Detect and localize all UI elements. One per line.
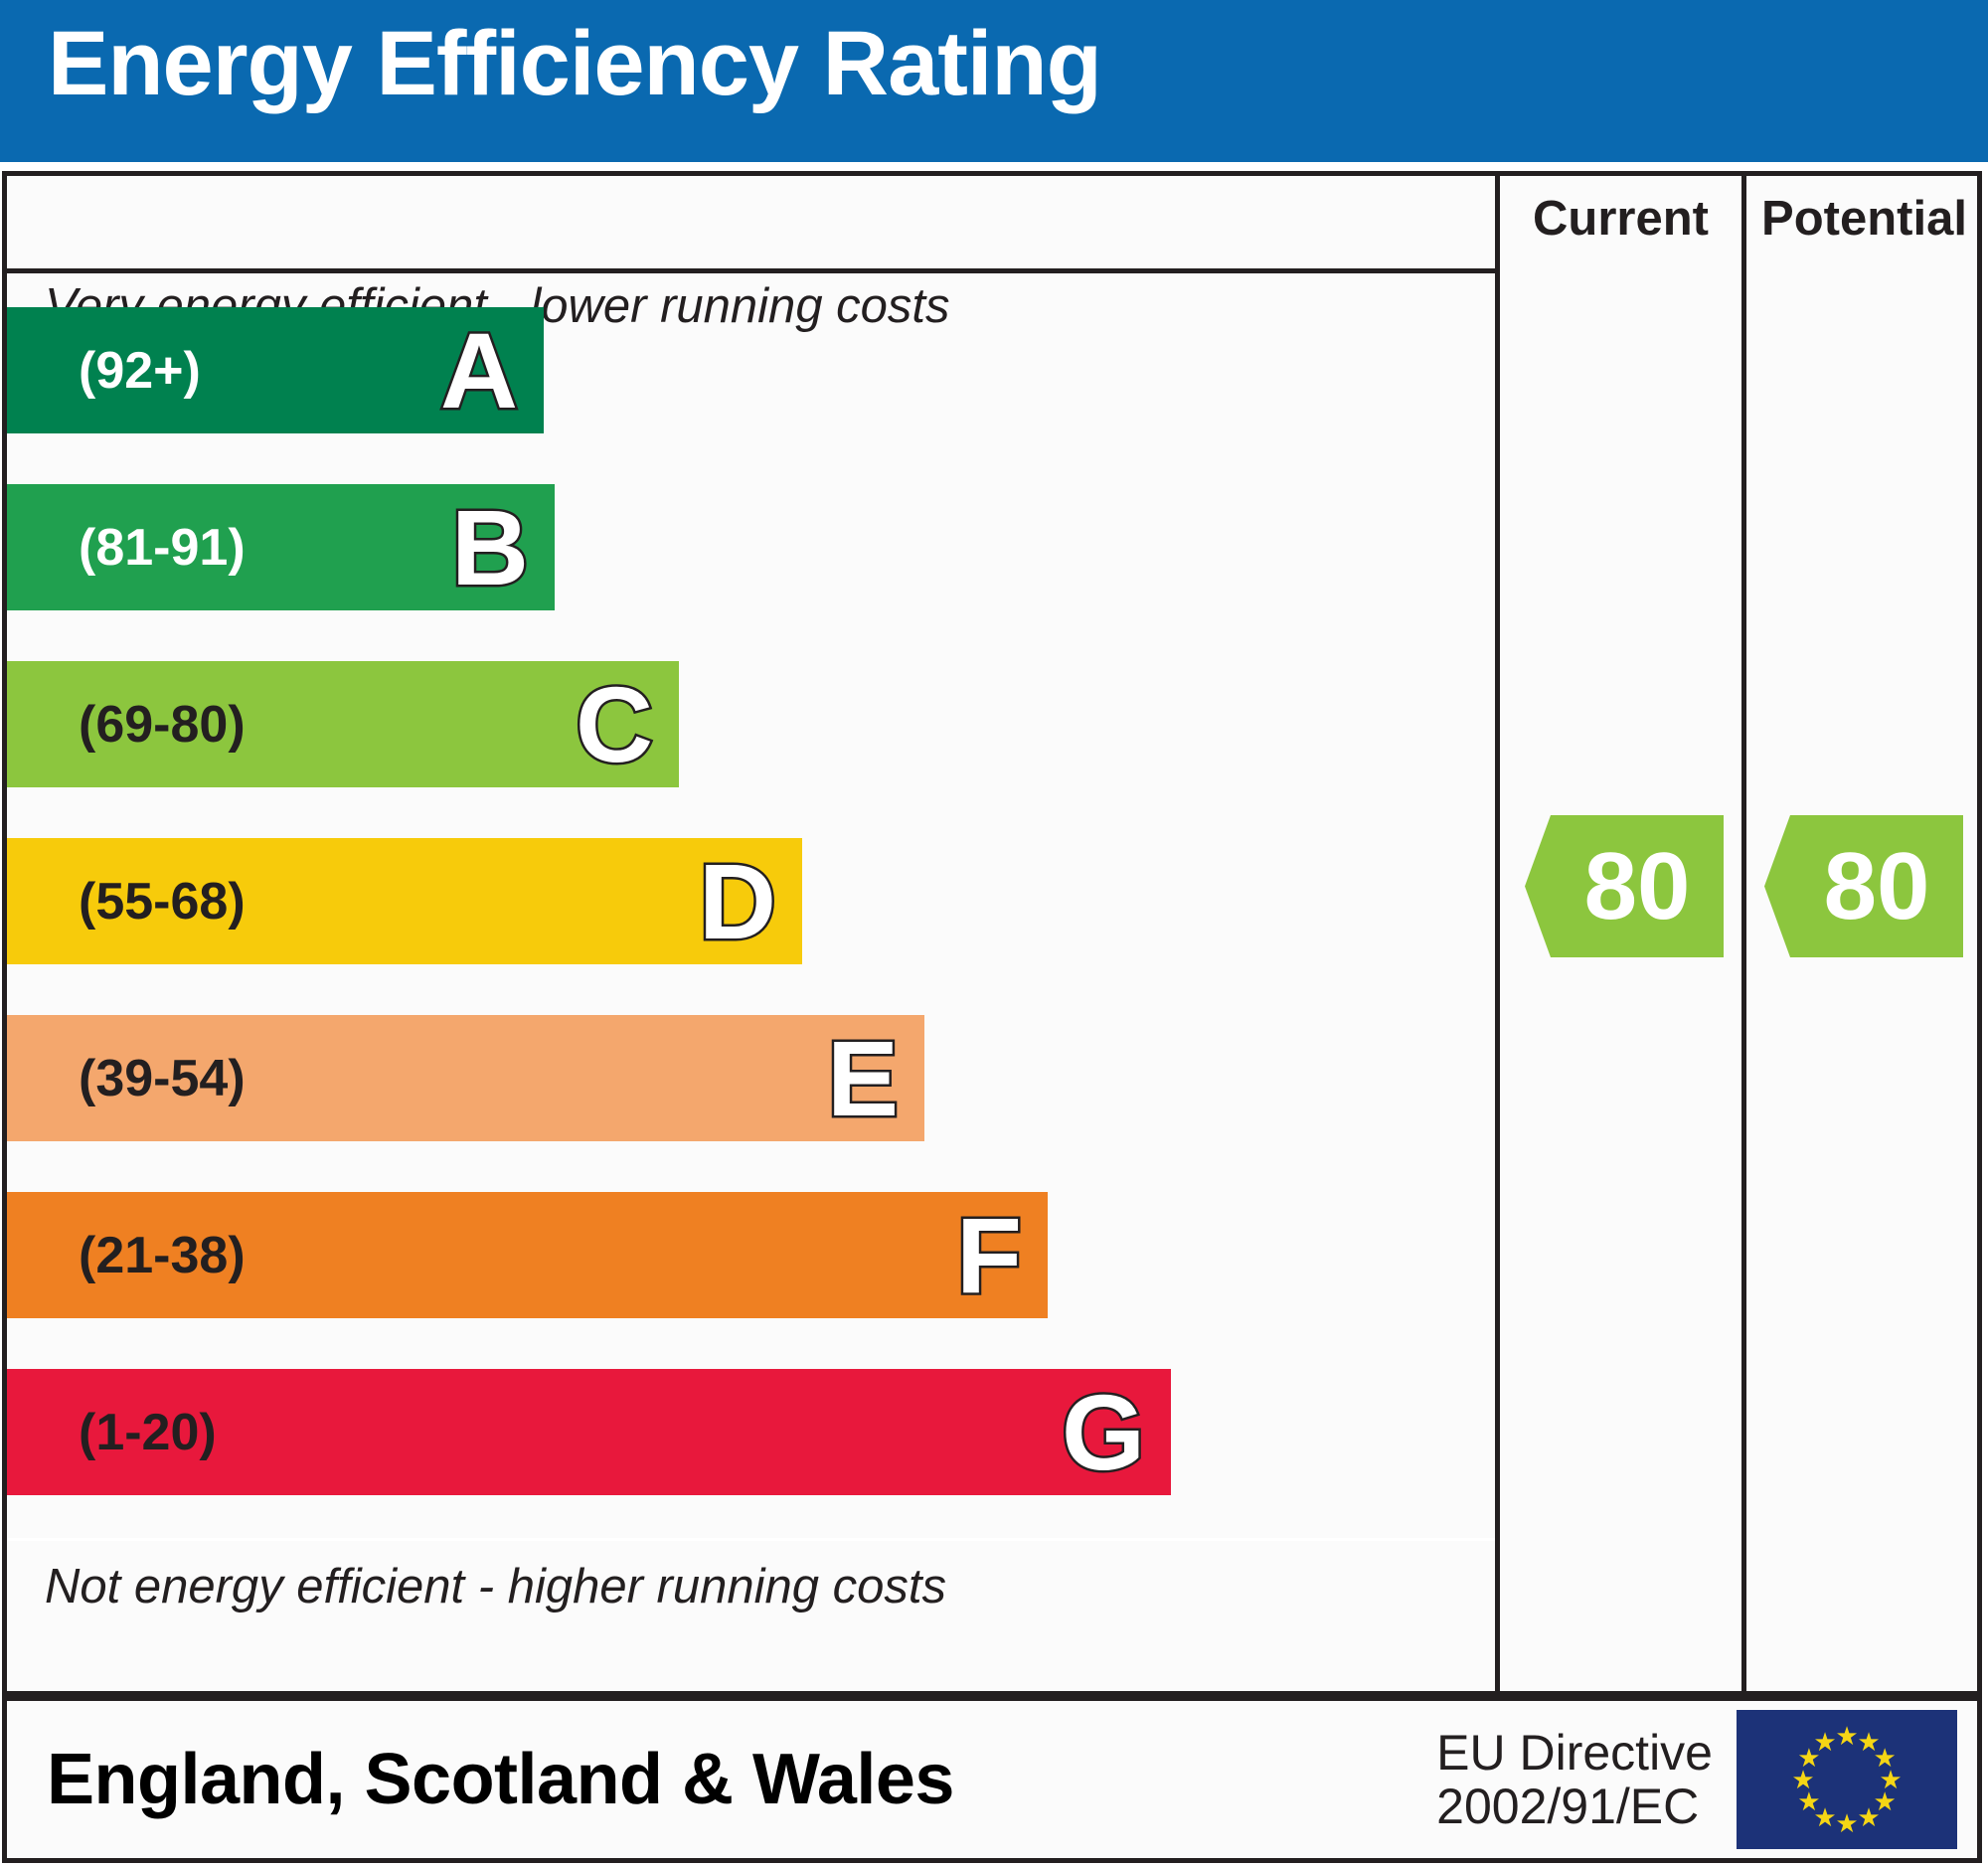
band-letter-label: B <box>451 494 529 601</box>
band-range-label: (55-68) <box>79 876 246 928</box>
region-label: England, Scotland & Wales <box>47 1739 954 1820</box>
band-letter-label: F <box>956 1202 1022 1309</box>
current-column-header: Current <box>1500 191 1741 247</box>
rating-chart-box: Current Potential Very energy efficient … <box>2 171 1982 1696</box>
band-range-label: (69-80) <box>79 699 246 751</box>
rating-band-a: (92+)A <box>7 307 544 433</box>
potential-rating-badge: 80 <box>1764 815 1963 957</box>
band-letter-label: D <box>699 848 776 955</box>
column-header-divider <box>7 268 1495 273</box>
certificate-title-banner: Energy Efficiency Rating <box>0 0 1988 162</box>
page-title: Energy Efficiency Rating <box>48 18 1101 109</box>
band-letter-label: A <box>440 317 518 424</box>
rating-band-b: (81-91)B <box>7 484 555 610</box>
current-rating-value: 80 <box>1584 839 1691 934</box>
band-range-label: (1-20) <box>79 1407 217 1458</box>
rating-band-g: (1-20)G <box>7 1369 1171 1495</box>
rating-band-f: (21-38)F <box>7 1192 1048 1318</box>
potential-column-header: Potential <box>1746 191 1982 247</box>
certificate-footer: England, Scotland & Wales EU Directive 2… <box>2 1696 1982 1863</box>
current-rating-badge: 80 <box>1525 815 1724 957</box>
bands-bottom-rule <box>7 1538 1495 1541</box>
rating-band-d: (55-68)D <box>7 838 802 964</box>
band-range-label: (39-54) <box>79 1053 246 1104</box>
eu-directive-label: EU Directive 2002/91/EC <box>1436 1726 1713 1833</box>
potential-rating-value: 80 <box>1824 839 1930 934</box>
potential-column-divider <box>1741 176 1746 1691</box>
rating-band-c: (69-80)C <box>7 661 679 787</box>
energy-efficiency-rating-certificate: Energy Efficiency Rating Current Potenti… <box>0 0 1988 1867</box>
eu-directive-line-1: EU Directive <box>1436 1726 1713 1780</box>
band-letter-label: E <box>827 1025 899 1132</box>
band-letter-label: C <box>576 671 653 778</box>
bottom-caption: Not energy efficient - higher running co… <box>45 1559 946 1614</box>
band-range-label: (21-38) <box>79 1230 246 1281</box>
band-range-label: (81-91) <box>79 522 246 574</box>
eu-flag-icon: ★★★★★★★★★★★★ <box>1737 1710 1957 1849</box>
current-column-divider <box>1495 176 1500 1691</box>
rating-band-e: (39-54)E <box>7 1015 924 1141</box>
rating-bands-list: (92+)A(81-91)B(69-80)C(55-68)D(39-54)E(2… <box>7 307 1495 1540</box>
band-range-label: (92+) <box>79 345 201 397</box>
band-letter-label: G <box>1062 1379 1145 1486</box>
eu-directive-line-2: 2002/91/EC <box>1436 1780 1713 1833</box>
